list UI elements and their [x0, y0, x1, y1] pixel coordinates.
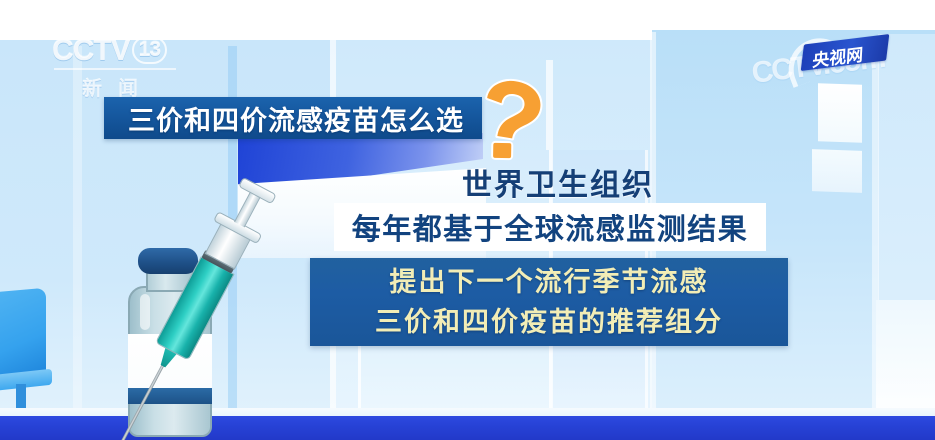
syringe-barrel-liquid [155, 256, 235, 360]
content-line-1-text: 世界卫生组织 [462, 169, 654, 202]
frosted-window-upper [818, 83, 862, 143]
wall-seam [73, 46, 82, 440]
wall-panel-lower-right [876, 300, 935, 425]
highlight-callout-box: 提出下一个流行季节流感 三价和四价疫苗的推荐组分 [310, 258, 788, 346]
content-line-2-text: 每年都基于全球流感监测结果 [352, 206, 749, 248]
headline-banner: 三价和四价流感疫苗怎么选 [104, 97, 482, 139]
frosted-window-lower [812, 149, 862, 193]
highlight-line-1: 提出下一个流行季节流感 [390, 262, 709, 302]
content-line-2: 每年都基于全球流感监测结果 [334, 203, 766, 251]
question-mark-icon [466, 72, 556, 167]
highlight-line-2: 三价和四价疫苗的推荐组分 [375, 302, 723, 342]
clinic-chair-icon [0, 288, 46, 379]
content-line-1: 世界卫生组织 [462, 160, 654, 204]
page-title: 三价和四价流感疫苗怎么选 [128, 99, 464, 138]
news-graphic-screen: CCTV13 新闻 CCTV.com 央视网 三价和四价流感疫苗怎么选 世界卫生… [0, 0, 935, 440]
